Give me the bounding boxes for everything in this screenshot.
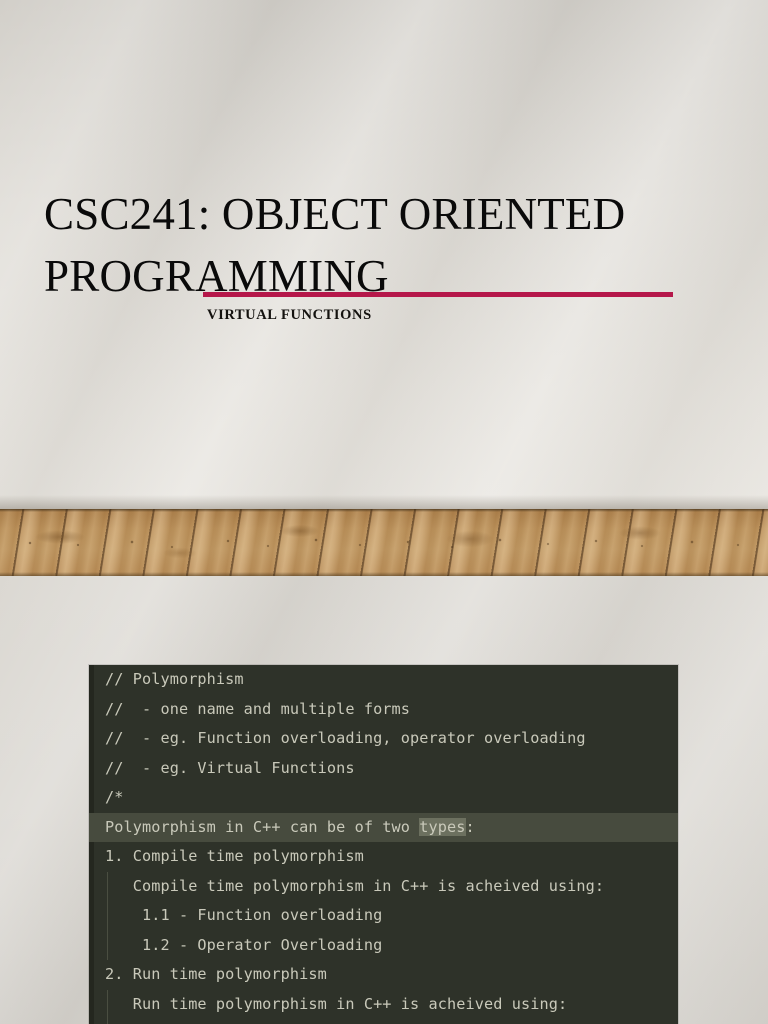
title-block: CSC241: Object Oriented Programming Virt… bbox=[44, 183, 744, 307]
floor-top-edge bbox=[0, 509, 768, 512]
code-line: // - one name and multiple forms bbox=[89, 695, 678, 725]
code-line-text: /* bbox=[105, 788, 124, 806]
code-line-text: // - eg. Function overloading, operator … bbox=[105, 729, 586, 747]
code-line: 1.2 - Operator Overloading bbox=[89, 931, 678, 961]
code-line-text: Run time polymorphism in C++ is acheived… bbox=[105, 995, 567, 1013]
page-title: CSC241: Object Oriented Programming bbox=[44, 183, 744, 307]
floor-knots bbox=[0, 509, 768, 576]
wooden-floor-band bbox=[0, 509, 768, 576]
code-line: 1. Compile time polymorphism bbox=[89, 842, 678, 872]
indent-guide bbox=[107, 1019, 108, 1024]
title-slide: CSC241: Object Oriented Programming Virt… bbox=[0, 0, 768, 576]
indent-guide bbox=[107, 872, 108, 902]
indent-guide bbox=[107, 990, 108, 1020]
code-line: 1.1 - Function overloading bbox=[89, 901, 678, 931]
indent-guide bbox=[107, 931, 108, 961]
code-line-text: // - eg. Virtual Functions bbox=[105, 759, 355, 777]
code-line-text: 1.1 - Function overloading bbox=[105, 906, 382, 924]
code-screenshot: // Polymorphism// - one name and multipl… bbox=[89, 665, 678, 1024]
code-line: 2. Run time polymorphism bbox=[89, 960, 678, 990]
code-slide: // Polymorphism// - one name and multipl… bbox=[0, 576, 768, 1024]
slide-subtitle: Virtual Functions bbox=[207, 307, 372, 324]
code-line-list: // Polymorphism// - one name and multipl… bbox=[89, 665, 678, 1024]
code-line: // - eg. Virtual Functions bbox=[89, 754, 678, 784]
code-line: Polymorphism in C++ can be of two types: bbox=[89, 813, 678, 843]
code-line: Run time polymorphism in C++ is acheived… bbox=[89, 990, 678, 1020]
code-line: Compile time polymorphism in C++ is ache… bbox=[89, 872, 678, 902]
code-line: // - eg. Function overloading, operator … bbox=[89, 724, 678, 754]
indent-guide bbox=[107, 901, 108, 931]
code-line-text: // - one name and multiple forms bbox=[105, 700, 410, 718]
code-line-text: Polymorphism in C++ can be of two bbox=[105, 818, 419, 836]
code-line: /* bbox=[89, 783, 678, 813]
code-line: // Polymorphism bbox=[89, 665, 678, 695]
code-line-text: Compile time polymorphism in C++ is ache… bbox=[105, 877, 604, 895]
wall-shadow bbox=[0, 495, 768, 509]
code-line: 2.1 - Virtual functions bbox=[89, 1019, 678, 1024]
code-line-text: 1. Compile time polymorphism bbox=[105, 847, 364, 865]
code-line-text-tail: : bbox=[466, 818, 475, 836]
code-selection: types bbox=[419, 818, 465, 836]
code-line-text: 2. Run time polymorphism bbox=[105, 965, 327, 983]
document-page: CSC241: Object Oriented Programming Virt… bbox=[0, 0, 768, 1024]
code-line-text: 1.2 - Operator Overloading bbox=[105, 936, 382, 954]
title-accent-rule bbox=[203, 292, 673, 297]
code-line-text: // Polymorphism bbox=[105, 670, 244, 688]
